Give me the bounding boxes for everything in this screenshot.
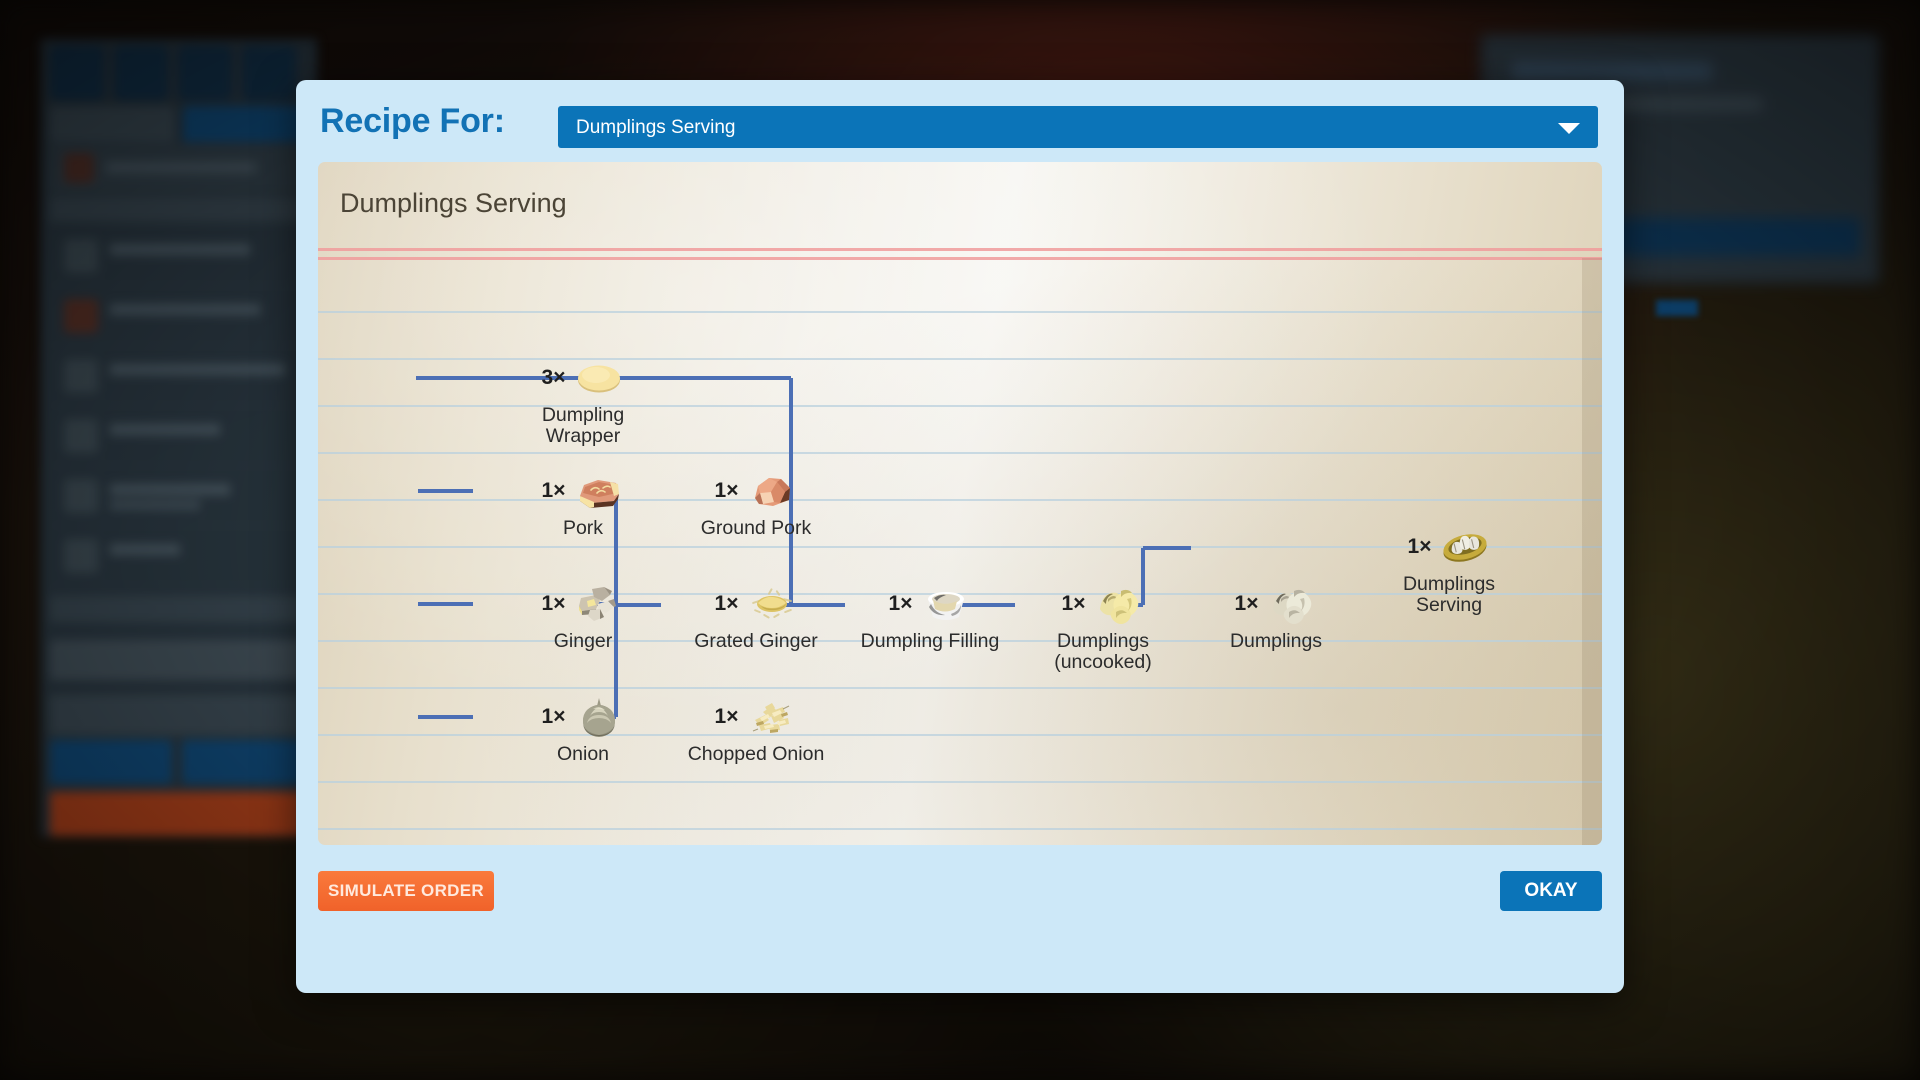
node-dumplings-serving[interactable]: 1× [1364,521,1534,616]
recipe-graph: 3× DumplingWrapper 1× [318,162,1602,845]
node-dumplings[interactable]: 1× [1191,578,1361,652]
node-quantity: 1× [1062,592,1086,616]
pork-icon [574,466,624,516]
node-label: DumplingWrapper [498,405,668,447]
dialog-header: Recipe For: Dumplings Serving [296,80,1624,162]
node-dumplings-uncooked[interactable]: 1× [1018,578,1188,673]
ginger-icon [574,579,624,629]
node-dumpling-filling[interactable]: 1× D [845,578,1015,652]
node-pork[interactable]: 1× [498,465,668,539]
node-label: Dumplings [1191,631,1361,652]
ground-pork-icon [747,466,797,516]
node-ground-pork[interactable]: 1× G [671,465,841,539]
simulate-order-button[interactable]: SIMULATE ORDER [318,871,494,911]
dumpling-filling-icon [921,579,971,629]
node-onion[interactable]: 1× O [498,691,668,765]
node-grated-ginger[interactable]: 1× [671,578,841,652]
node-quantity: 1× [715,592,739,616]
node-label: Dumpling Filling [845,631,1015,652]
node-label: DumplingsServing [1364,574,1534,616]
onion-icon [574,692,624,742]
node-dumpling-wrapper[interactable]: 3× DumplingWrapper [498,352,668,447]
node-quantity: 1× [715,479,739,503]
node-label: Pork [498,518,668,539]
dumplings-uncooked-icon [1094,579,1144,629]
recipe-scrollbar[interactable] [1582,258,1602,845]
node-chopped-onion[interactable]: 1× [671,691,841,765]
node-ginger[interactable]: 1× [498,578,668,652]
node-quantity: 1× [889,592,913,616]
node-label: Grated Ginger [671,631,841,652]
okay-button[interactable]: OKAY [1500,871,1602,911]
dumplings-icon [1267,579,1317,629]
recipe-dialog: Recipe For: Dumplings Serving [296,80,1624,993]
node-quantity: 1× [542,479,566,503]
node-quantity: 1× [1408,535,1432,559]
chevron-down-icon [1558,123,1580,134]
chopped-onion-icon [747,692,797,742]
dumpling-wrapper-icon [574,353,624,403]
node-quantity: 1× [1235,592,1259,616]
node-label: Onion [498,744,668,765]
recipe-select[interactable]: Dumplings Serving [558,106,1598,148]
dumplings-serving-icon [1440,522,1490,572]
node-label: Chopped Onion [671,744,841,765]
node-quantity: 1× [542,592,566,616]
node-label: Dumplings(uncooked) [1018,631,1188,673]
grated-ginger-icon [747,579,797,629]
node-label: Ginger [498,631,668,652]
page-title: Recipe For: [320,102,505,141]
screen: Recipe For: Dumplings Serving [0,0,1920,1080]
node-quantity: 1× [715,705,739,729]
node-label: Ground Pork [671,518,841,539]
node-quantity: 3× [542,366,566,390]
recipe-paper: Dumplings Serving [318,162,1602,845]
recipe-select-value: Dumplings Serving [576,117,735,139]
node-quantity: 1× [542,705,566,729]
